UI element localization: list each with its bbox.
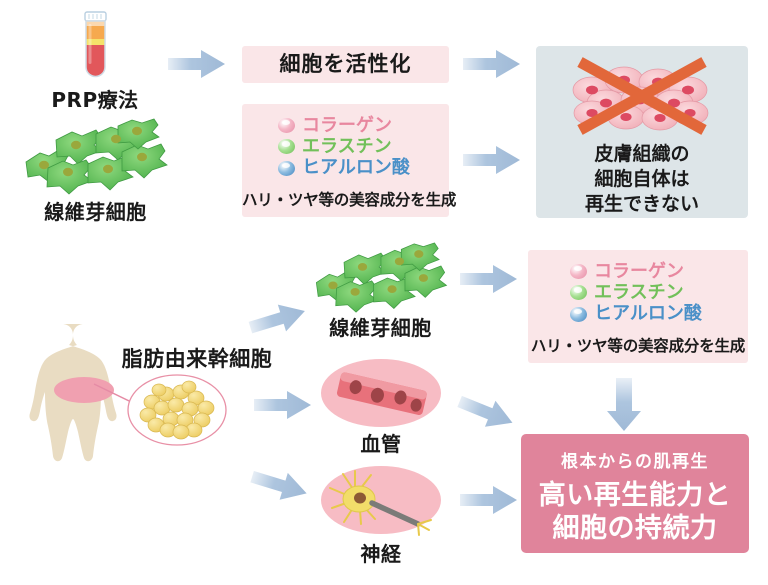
- activate-cells-text: 細胞を活性化: [242, 46, 449, 83]
- result-line-2: 細胞の持続力: [521, 513, 749, 546]
- skin-line-1: 皮膚組織の: [536, 142, 748, 167]
- arrow-stemcell-to-vessel: [252, 388, 314, 422]
- prp-label: PRP療法: [25, 84, 165, 113]
- ingredients-note-bottom: ハリ・ツヤ等の美容成分を生成: [528, 334, 748, 356]
- ingredients-box-bottom: コラーゲン エラスチン ヒアルロン酸 ハリ・ツヤ等の美容成分を生成: [528, 250, 748, 363]
- skin-line-2: 細胞自体は: [536, 167, 748, 192]
- ingredient-label-collagen: コラーゲン: [302, 115, 392, 136]
- blood-test-tube-icon: [62, 8, 128, 84]
- ingredient-row-elastin: エラスチン: [278, 136, 449, 157]
- fibroblast-cells-icon: [18, 118, 173, 196]
- ingredient-label-collagen-2: コラーゲン: [594, 261, 684, 282]
- arrow-ingredients-down-to-result: [604, 376, 644, 432]
- ingredient-row-hyaluronic-2: ヒアルロン酸: [570, 303, 748, 324]
- arrow-fibroblast2-to-ingredients: [458, 262, 520, 296]
- nerve-label: 神経: [311, 538, 451, 567]
- result-main-text: 高い再生能力と 細胞の持続力: [521, 480, 749, 546]
- skin-cannot-regenerate-box: 皮膚組織の 細胞自体は 再生できない: [536, 46, 748, 218]
- collagen-bead-icon: [278, 118, 295, 133]
- arrow-activate-to-skin: [461, 48, 523, 80]
- hyaluronic-bead-icon-2: [570, 307, 587, 322]
- ingredients-box-top: コラーゲン エラスチン ヒアルロン酸 ハリ・ツヤ等の美容成分を生成: [242, 104, 449, 217]
- fibroblast-label-bottom: 線維芽細胞: [303, 312, 458, 341]
- activate-cells-box: 細胞を活性化: [242, 46, 449, 83]
- fibroblast-label-top: 線維芽細胞: [18, 196, 173, 225]
- ingredient-row-hyaluronic: ヒアルロン酸: [278, 157, 449, 178]
- arrow-vessel-to-result: [445, 383, 526, 448]
- diagram-canvas: PRP療法 線維芽細胞: [0, 0, 768, 585]
- hyaluronic-bead-icon: [278, 161, 295, 176]
- result-subtitle: 根本からの肌再生: [521, 447, 749, 472]
- ingredient-label-hyaluronic: ヒアルロン酸: [302, 157, 410, 178]
- nerve-cell-icon: [311, 462, 451, 540]
- ingredient-row-collagen: コラーゲン: [278, 115, 449, 136]
- skin-cannot-regenerate-text: 皮膚組織の 細胞自体は 再生できない: [536, 142, 748, 217]
- ingredient-label-elastin: エラスチン: [302, 136, 392, 157]
- regeneration-result-box: 根本からの肌再生 高い再生能力と 細胞の持続力: [521, 434, 749, 553]
- ingredients-note-top: ハリ・ツヤ等の美容成分を生成: [242, 188, 449, 210]
- elastin-bead-icon-2: [570, 285, 587, 300]
- elastin-bead-icon: [278, 139, 295, 154]
- ingredient-label-elastin-2: エラスチン: [594, 282, 684, 303]
- ingredient-row-elastin-2: エラスチン: [570, 282, 748, 303]
- skin-line-3: 再生できない: [536, 192, 748, 217]
- result-line-1: 高い再生能力と: [521, 480, 749, 513]
- blood-vessel-label: 血管: [311, 428, 451, 457]
- collagen-bead-icon-2: [570, 264, 587, 279]
- arrow-ingredients-to-skin: [461, 144, 523, 176]
- fat-cells-cluster-icon: [126, 372, 228, 448]
- fibroblast-cells-icon-bottom: [303, 242, 458, 314]
- arrow-nerve-to-result: [458, 483, 520, 517]
- ingredient-label-hyaluronic-2: ヒアルロン酸: [594, 303, 702, 324]
- blood-vessel-icon: [311, 355, 451, 431]
- arrow-prp-to-activate: [166, 48, 228, 80]
- ingredient-row-collagen-2: コラーゲン: [570, 261, 748, 282]
- skin-tissue-cells-crossed-out-icon: [562, 56, 722, 136]
- arrow-stemcell-to-nerve: [244, 460, 315, 516]
